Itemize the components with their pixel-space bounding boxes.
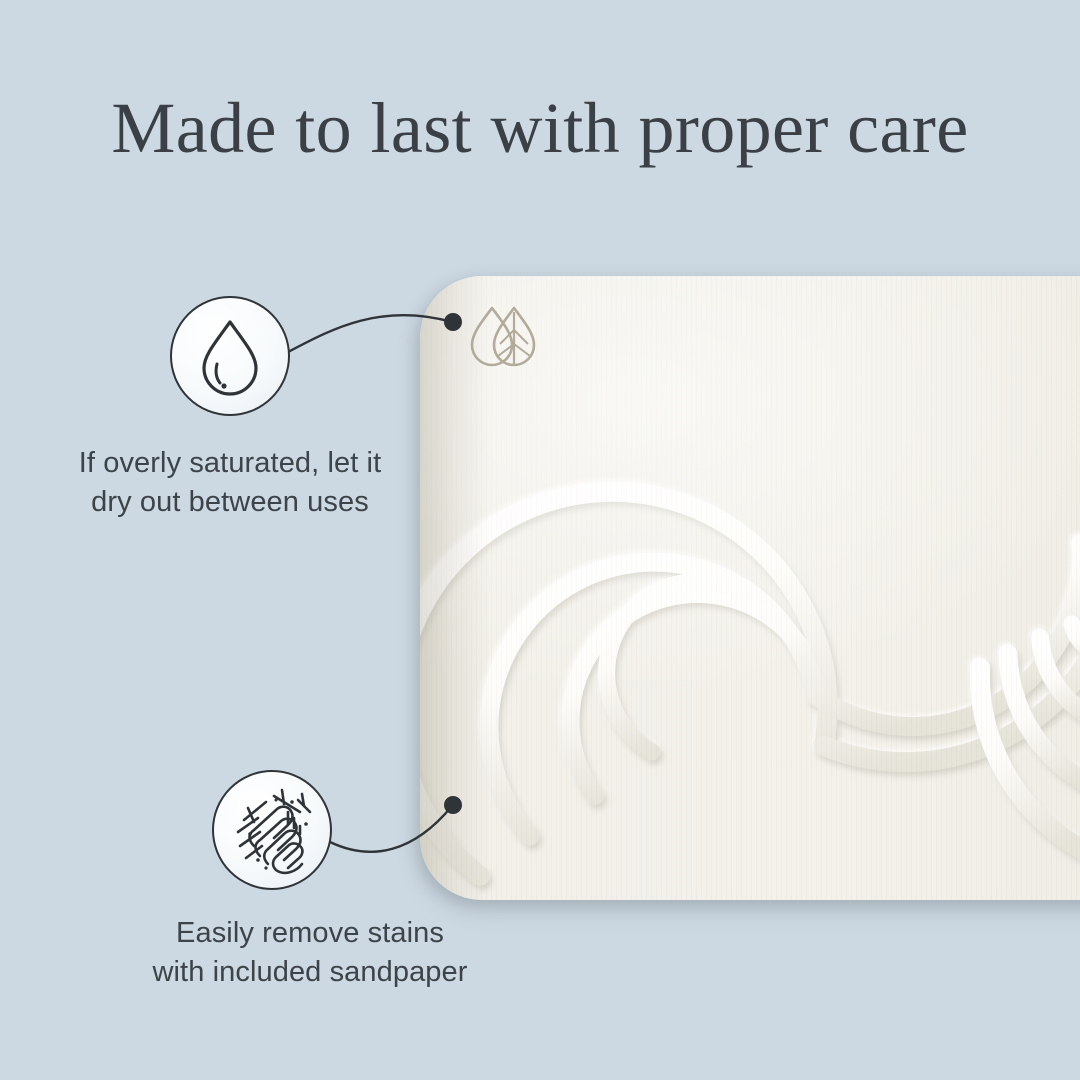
- hand-scrubbing-icon: [212, 770, 332, 890]
- water-drop-icon: [170, 296, 290, 416]
- page-title: Made to last with proper care: [0, 92, 1080, 164]
- infographic-canvas: Made to last with proper care: [0, 0, 1080, 1080]
- caption-sandpaper-line-1: Easily remove stains: [60, 914, 560, 953]
- caption-water-line-1: If overly saturated, let it: [20, 444, 440, 483]
- product-image: [420, 276, 1080, 900]
- caption-sandpaper: Easily remove stains with included sandp…: [60, 914, 560, 991]
- caption-sandpaper-line-2: with included sandpaper: [60, 953, 560, 992]
- leaf-droplet-logo-icon: [464, 300, 544, 376]
- caption-water-line-2: dry out between uses: [20, 483, 440, 522]
- caption-water: If overly saturated, let it dry out betw…: [20, 444, 440, 521]
- product-surface: [420, 276, 1080, 900]
